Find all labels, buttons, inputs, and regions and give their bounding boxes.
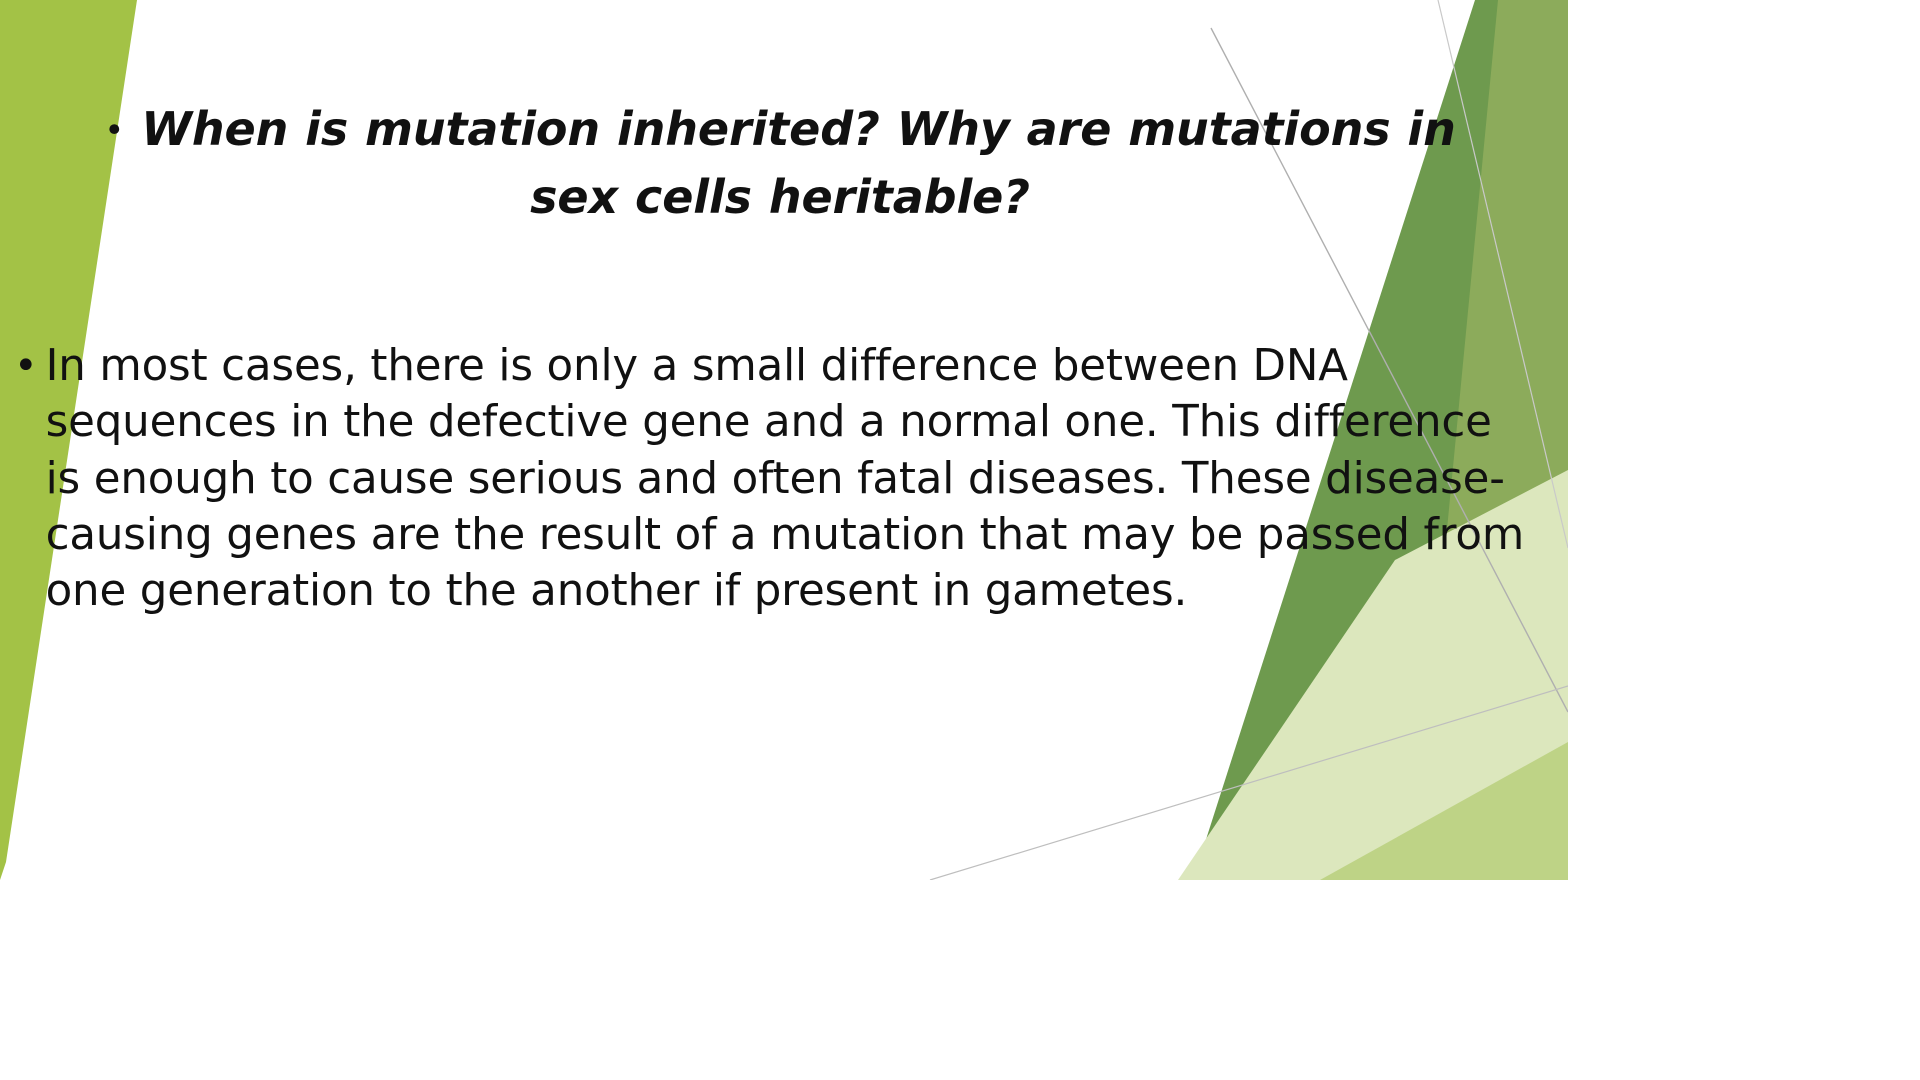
body-paragraph-text: In most cases, there is only a small dif… [46, 338, 1534, 620]
title-placeholder[interactable]: • When is mutation inherited? Why are mu… [60, 96, 1500, 231]
body-bullet-icon: • [14, 338, 46, 386]
title-line-1-text: When is mutation inherited? Why are muta… [141, 102, 1456, 156]
body-placeholder[interactable]: • In most cases, there is only a small d… [14, 338, 1534, 620]
slide-canvas: • When is mutation inherited? Why are mu… [0, 0, 1568, 880]
title-line-2-text: sex cells heritable? [530, 170, 1030, 224]
title-bullet-icon: • [104, 111, 124, 151]
slide-text-layer: • When is mutation inherited? Why are mu… [0, 0, 1568, 880]
title-text-line-1: • When is mutation inherited? Why are mu… [60, 96, 1500, 231]
